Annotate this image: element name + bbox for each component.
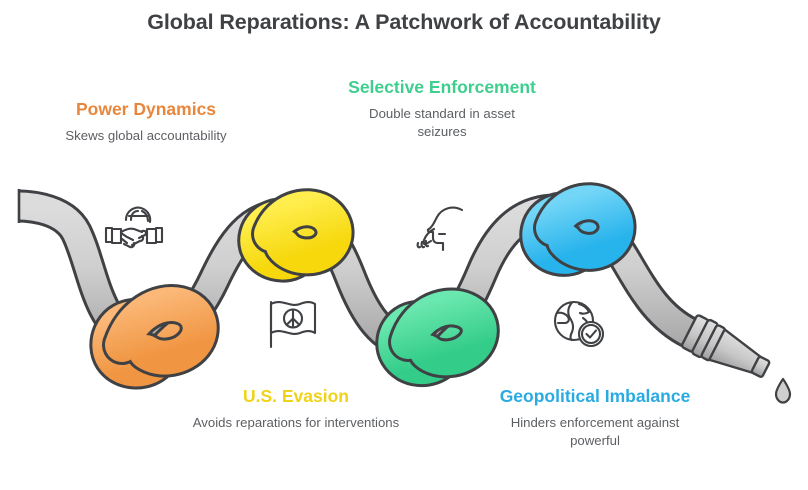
globe-check-icon (548, 296, 608, 352)
infographic-canvas: Global Reparations: A Patchwork of Accou… (0, 0, 808, 490)
knot-power-dynamics (109, 304, 199, 369)
callout-description-geopolitical-imbalance: Hinders enforcement against powerful (487, 414, 703, 450)
handshake-globe-icon (98, 200, 170, 258)
callout-title-power-dynamics: Power Dynamics (36, 98, 256, 120)
callout-title-us-evasion: U.S. Evasion (190, 385, 402, 407)
callout-title-selective-enforcement: Selective Enforcement (348, 76, 536, 98)
peace-flag-icon (262, 295, 322, 353)
callout-power-dynamics: Power Dynamics Skews global accountabili… (36, 98, 256, 145)
whisper-face-icon (406, 198, 468, 256)
callout-description-power-dynamics: Skews global accountability (36, 127, 256, 145)
callout-title-geopolitical-imbalance: Geopolitical Imbalance (487, 385, 703, 407)
water-drop (776, 379, 790, 403)
knot-selective-enforcement (395, 307, 480, 367)
callout-description-selective-enforcement: Double standard in asset seizures (348, 105, 536, 141)
knot-geopolitical-imbalance (539, 202, 616, 257)
callout-description-us-evasion: Avoids reparations for interventions (190, 414, 402, 432)
page-title: Global Reparations: A Patchwork of Accou… (0, 10, 808, 35)
callout-geopolitical-imbalance: Geopolitical Imbalance Hinders enforceme… (487, 385, 703, 450)
hose-nozzle (681, 314, 775, 387)
knot-us-evasion (257, 208, 334, 262)
callout-selective-enforcement: Selective Enforcement Double standard in… (348, 76, 536, 141)
callout-us-evasion: U.S. Evasion Avoids reparations for inte… (190, 385, 402, 432)
